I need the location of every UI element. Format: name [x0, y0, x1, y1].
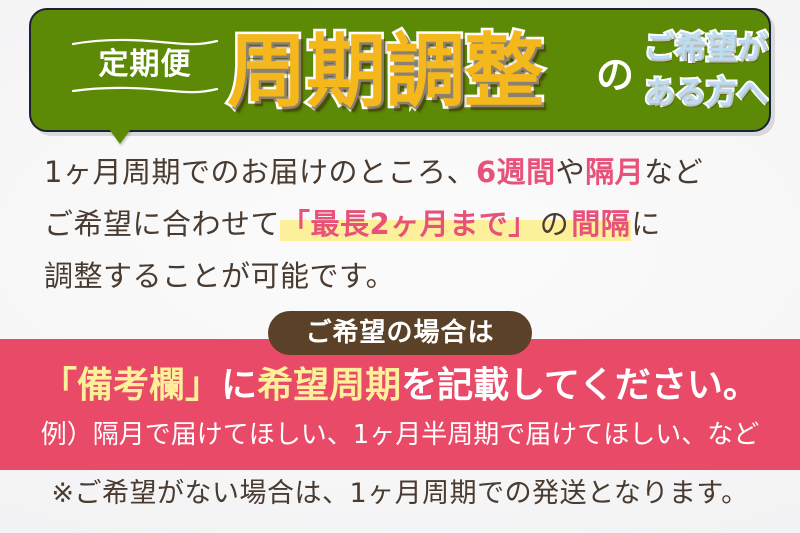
pink-main-part-b: に — [221, 365, 257, 406]
subscription-badge-label: 定期便 — [69, 46, 221, 86]
header-green-panel: 定期便 周期調整 の ご希望が ある方へ — [29, 8, 771, 132]
pink-main-desired-cycle: 希望周期 — [257, 365, 401, 406]
body-line-2: ご希望に合わせて「最長2ヶ月まで」の間隔に — [44, 198, 760, 250]
body-line1-emphasis-weeks: 6週間 — [476, 155, 556, 189]
body-line1-part-e: など — [644, 155, 703, 189]
header-title-right: ご希望が ある方へ — [643, 26, 769, 116]
subscription-badge: 定期便 — [69, 38, 221, 94]
body-line1-part-a: 1ヶ月周期でのお届けのところ、 — [44, 155, 476, 189]
header-title-right-line2: ある方へ — [643, 71, 769, 116]
footer-note: ※ご希望がない場合は、1ヶ月周期での発送となります。 — [0, 478, 800, 510]
body-line2-part-e: に — [631, 207, 661, 241]
body-line1-emphasis-bimonthly: 隔月 — [585, 155, 644, 189]
request-case-pill-label: ご希望の場合は — [305, 320, 494, 346]
request-case-pill: ご希望の場合は — [268, 311, 532, 355]
pink-main-part-d: を記載してください。 — [401, 365, 759, 406]
pink-example-text: 例）隔月で届けてほしい、1ヶ月半周期で届けてほしい、など — [0, 420, 800, 451]
pink-main-remarks-field: 「備考欄」 — [41, 365, 221, 406]
body-line2-highlight-interval: 間隔 — [570, 207, 631, 241]
body-line-1: 1ヶ月周期でのお届けのところ、6週間や隔月など — [44, 146, 760, 198]
body-line2-highlight-maxperiod: 「最長2ヶ月まで」 — [280, 207, 539, 241]
header-title-right-line1: ご希望が — [643, 26, 769, 71]
header-title-main: 周期調整 — [227, 18, 543, 126]
promo-banner: 定期便 周期調整 の ご希望が ある方へ 1ヶ月周期でのお届けのところ、6週間や… — [0, 0, 800, 533]
body-line-3: 調整することが可能です。 — [44, 250, 760, 302]
pink-main-instruction: 「備考欄」に希望周期を記載してください。 — [0, 363, 800, 408]
body-paragraph: 1ヶ月周期でのお届けのところ、6週間や隔月など ご希望に合わせて「最長2ヶ月まで… — [44, 146, 760, 302]
body-line1-part-c: や — [556, 155, 586, 189]
wave-decoration-top-icon — [71, 38, 219, 46]
header-title-particle: の — [596, 56, 634, 94]
body-line2-part-c: の — [539, 207, 571, 241]
wave-decoration-bottom-icon — [71, 86, 219, 94]
speech-bubble-tail-icon — [109, 129, 131, 144]
body-line2-part-a: ご希望に合わせて — [44, 207, 280, 241]
header-banner: 定期便 周期調整 の ご希望が ある方へ — [29, 8, 771, 132]
